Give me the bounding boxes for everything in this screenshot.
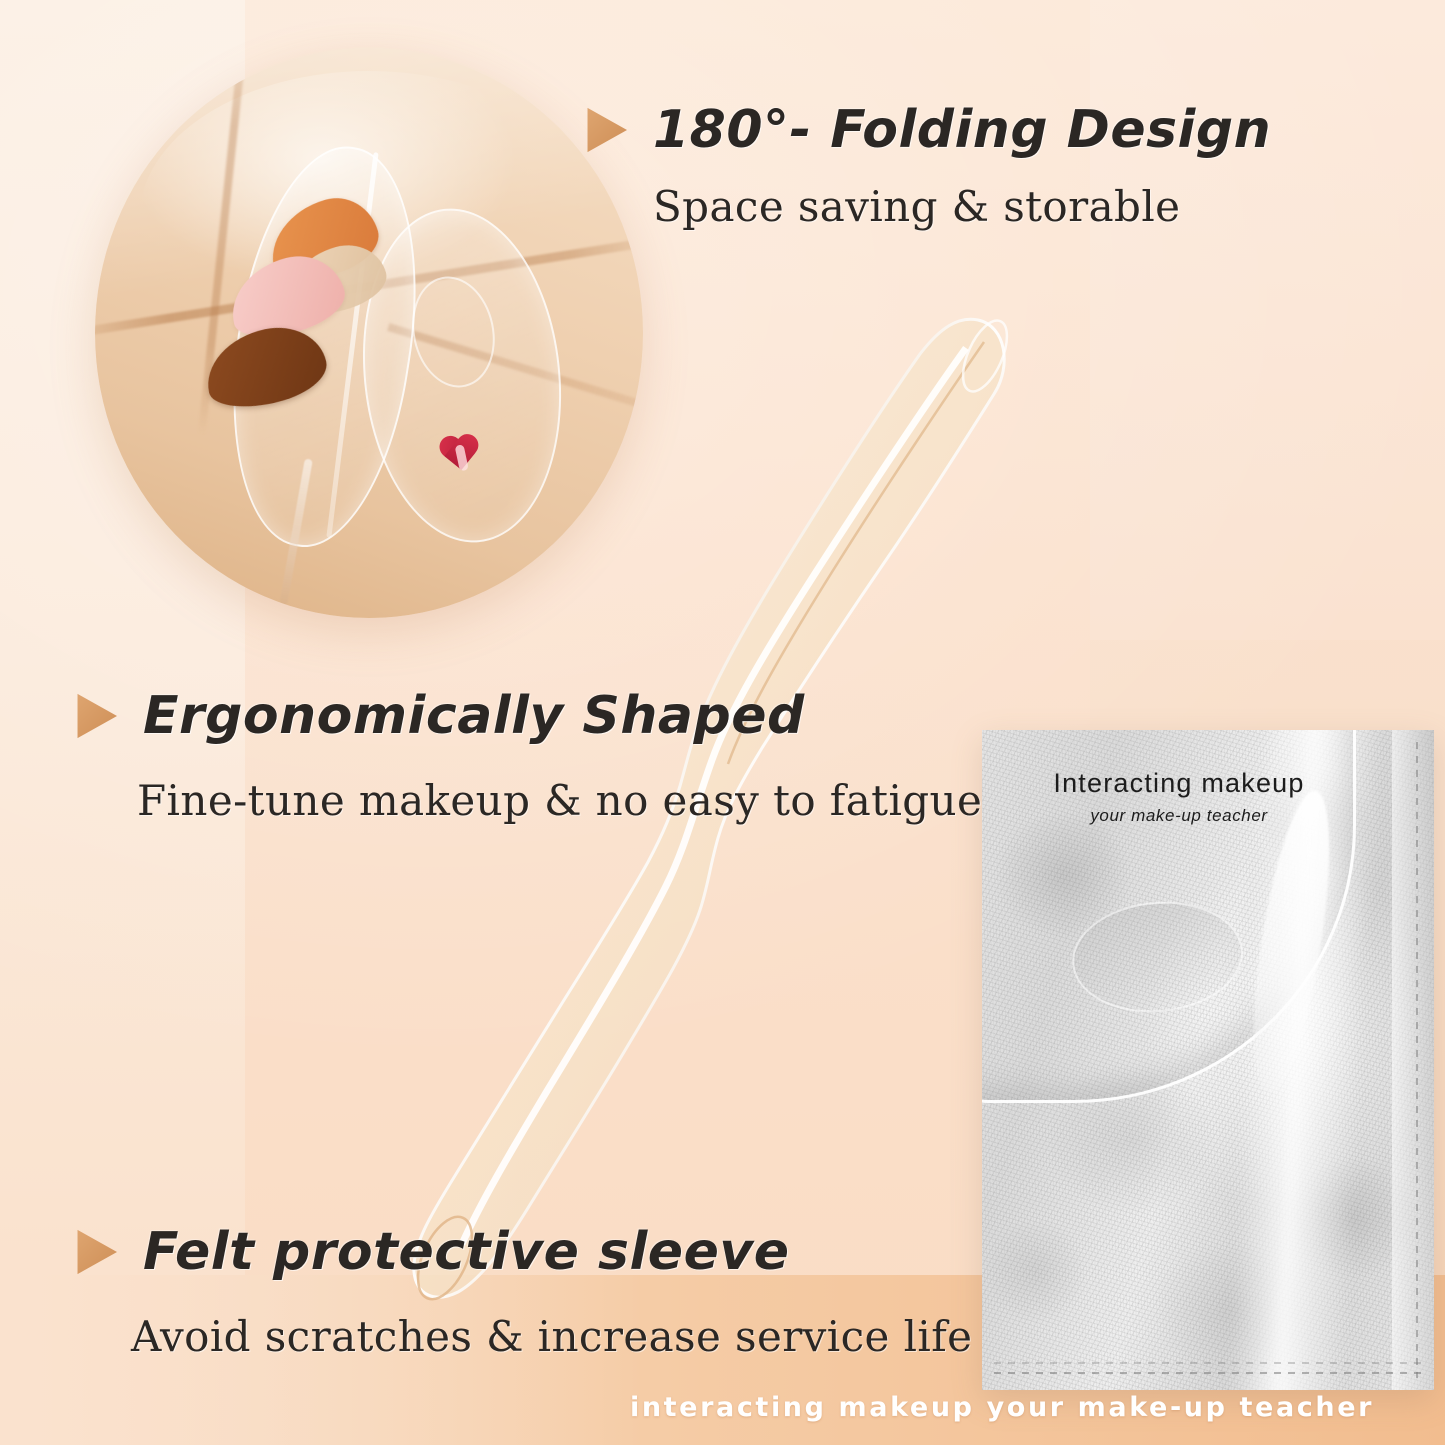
heart-highlight bbox=[454, 444, 468, 471]
circle-photo bbox=[95, 48, 643, 618]
feature-heading: Felt protective sleeve bbox=[143, 1222, 790, 1282]
feature-heading-row: Ergonomically Shaped bbox=[75, 686, 982, 746]
feature-block-ergonomic: Ergonomically Shaped Fine-tune makeup & … bbox=[75, 686, 982, 825]
feature-heading: Ergonomically Shaped bbox=[143, 686, 805, 746]
pouch-right-edge bbox=[1392, 730, 1434, 1390]
heart-icon bbox=[436, 433, 484, 477]
product-feature-infographic: Interacting makeup your make-up teacher … bbox=[0, 0, 1445, 1445]
feature-subheading: Space saving & storable bbox=[653, 182, 1271, 231]
play-triangle-icon bbox=[75, 1228, 117, 1276]
feature-subheading: Fine-tune makeup & no easy to fatigue bbox=[137, 776, 982, 825]
play-triangle-icon bbox=[75, 692, 117, 740]
footer-brand-text: interacting makeup your make-up teacher bbox=[630, 1392, 1445, 1423]
product-circle-inset bbox=[95, 48, 643, 618]
play-triangle-icon bbox=[585, 106, 627, 154]
pouch-branding: Interacting makeup your make-up teacher bbox=[982, 768, 1434, 826]
pouch-brand-subtitle: your make-up teacher bbox=[982, 806, 1376, 826]
feature-heading: 180°- Folding Design bbox=[653, 100, 1271, 160]
feature-heading-row: Felt protective sleeve bbox=[75, 1222, 972, 1282]
felt-protective-sleeve: Interacting makeup your make-up teacher bbox=[982, 730, 1434, 1390]
feature-subheading: Avoid scratches & increase service life bbox=[131, 1312, 972, 1361]
pouch-right-stitching bbox=[1416, 742, 1418, 1378]
pouch-bottom-stitching bbox=[994, 1372, 1422, 1374]
pouch-brand-title: Interacting makeup bbox=[982, 768, 1376, 799]
feature-heading-row: 180°- Folding Design bbox=[585, 100, 1271, 160]
feature-block-folding-design: 180°- Folding Design Space saving & stor… bbox=[585, 100, 1271, 231]
pouch-bottom-stitching-2 bbox=[994, 1362, 1422, 1364]
feature-block-felt-sleeve: Felt protective sleeve Avoid scratches &… bbox=[75, 1222, 972, 1361]
